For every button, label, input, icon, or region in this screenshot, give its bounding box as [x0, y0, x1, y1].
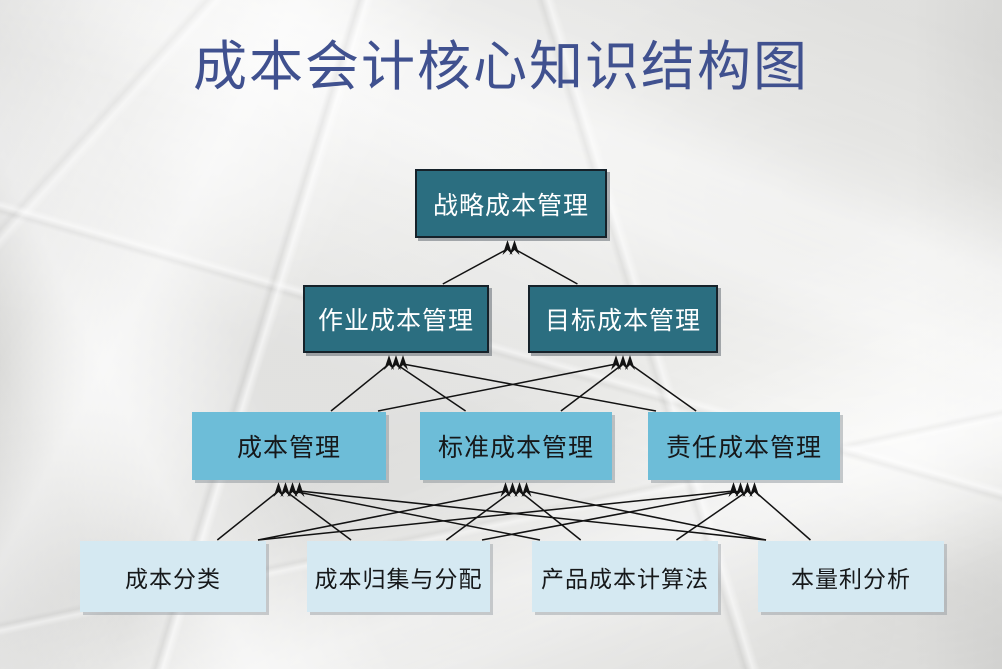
diagram-page: 成本会计核心知识结构图 战略成本管理作业成本管理目标成本管理成本管理标准成本管理…	[0, 0, 1002, 669]
edge-line	[520, 491, 581, 540]
node-n9[interactable]: 产品成本计算法	[532, 541, 718, 612]
edge-line	[755, 491, 811, 540]
node-label: 责任成本管理	[666, 428, 822, 464]
edge-arrowhead	[508, 482, 518, 497]
edge-arrowhead	[618, 355, 628, 370]
edge-arrowhead	[281, 482, 291, 497]
edge-line	[378, 364, 616, 411]
edge-line	[403, 364, 656, 411]
node-n10[interactable]: 本量利分析	[758, 541, 944, 612]
edge-line	[446, 491, 512, 540]
edge-arrowhead	[736, 482, 746, 497]
node-label: 作业成本管理	[318, 301, 474, 337]
edge-line	[676, 491, 747, 540]
edge-line	[293, 491, 541, 540]
edge-line	[630, 364, 696, 411]
node-label: 标准成本管理	[438, 428, 594, 464]
page-title: 成本会计核心知识结构图	[0, 34, 1002, 100]
edge-line	[258, 491, 734, 540]
node-n7[interactable]: 成本分类	[80, 541, 266, 612]
node-label: 成本分类	[125, 560, 221, 594]
edge-arrowhead	[503, 240, 513, 255]
node-label: 目标成本管理	[545, 301, 701, 337]
edge-arrowhead	[522, 482, 532, 497]
node-label: 成本管理	[237, 428, 341, 464]
edge-arrowhead	[743, 482, 753, 497]
node-n3[interactable]: 目标成本管理	[528, 285, 718, 353]
node-n8[interactable]: 成本归集与分配	[307, 541, 490, 612]
edge-line	[331, 364, 389, 411]
edge-arrowhead	[625, 355, 635, 370]
edge-arrowhead	[288, 482, 298, 497]
edge-line	[515, 249, 578, 284]
edge-line	[258, 491, 506, 540]
node-n2[interactable]: 作业成本管理	[303, 285, 489, 353]
edge-arrowhead	[750, 482, 760, 497]
node-n1[interactable]: 战略成本管理	[415, 169, 607, 238]
edge-line	[561, 364, 623, 411]
edge-arrowhead	[501, 482, 511, 497]
node-n4[interactable]: 成本管理	[192, 412, 386, 480]
edge-arrowhead	[611, 355, 621, 370]
edge-arrowhead	[515, 482, 525, 497]
node-n6[interactable]: 责任成本管理	[648, 412, 840, 480]
node-n5[interactable]: 标准成本管理	[420, 412, 612, 480]
edge-arrowhead	[295, 482, 305, 497]
edge-line	[396, 364, 466, 411]
edge-line	[217, 491, 278, 540]
edge-arrowhead	[274, 482, 284, 497]
node-label: 本量利分析	[791, 560, 911, 594]
edge-arrowhead	[391, 355, 401, 370]
edge-arrowhead	[510, 240, 520, 255]
edge-line	[527, 491, 767, 540]
edge-arrowhead	[398, 355, 408, 370]
edge-line	[300, 491, 767, 540]
edge-line	[286, 491, 352, 540]
edge-line	[482, 491, 741, 540]
edge-line	[443, 249, 508, 284]
edge-arrowhead	[384, 355, 394, 370]
node-label: 战略成本管理	[433, 186, 589, 222]
edge-arrowhead	[729, 482, 739, 497]
node-label: 成本归集与分配	[315, 560, 483, 594]
node-label: 产品成本计算法	[541, 560, 709, 594]
